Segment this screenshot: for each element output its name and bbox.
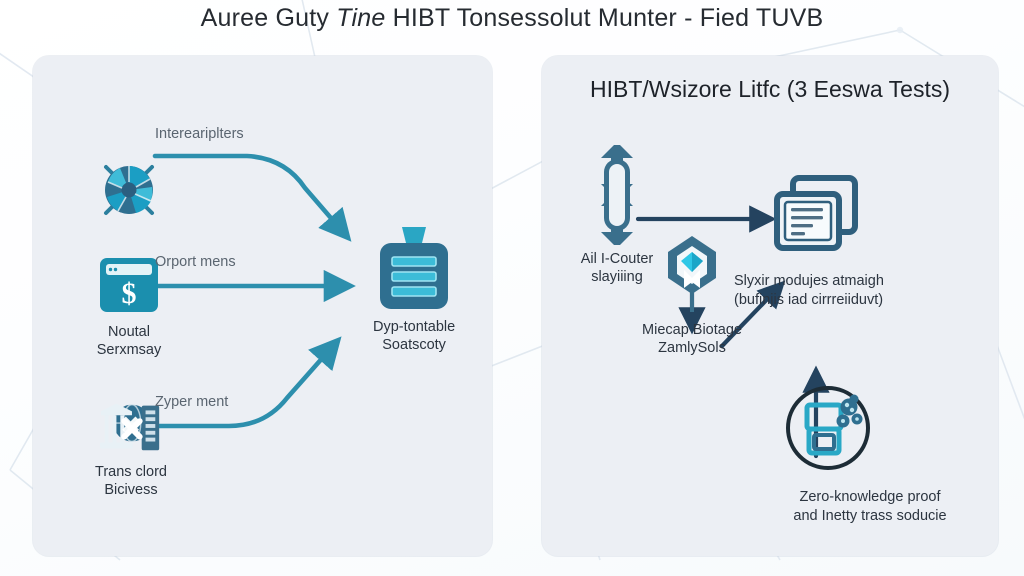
note-zkp-line-1: Zero-knowledge proof <box>799 489 940 505</box>
node-institution-label-2: Bicivess <box>95 482 167 500</box>
svg-text:$: $ <box>122 277 137 310</box>
node-institution-label-1: Trans clord <box>95 464 167 480</box>
browser-dollar-icon: $ <box>95 251 163 319</box>
node-clipboard-caption: Dyp-tontable Soatscoty <box>373 319 455 354</box>
note-modules: Slyxir modujes atmaigh (bufinjis iad cir… <box>734 272 884 310</box>
right-panel: HIBT/Wsizore Litfc (3 Eeswa Tests) <box>542 56 998 556</box>
node-pin-gem-caption: Miecap Biotage ZamlySols <box>630 322 754 357</box>
note-zkp-line-2: and Inetty trass soducie <box>720 507 1020 526</box>
node-windows[interactable] <box>770 172 864 265</box>
note-modules-line-1: Slyxir modujes atmaigh <box>734 273 884 289</box>
left-panel: $ Noutal Serxmsay <box>33 56 492 556</box>
edge-label-interoperability: Intereariplters <box>155 126 244 142</box>
node-pin-gem-label-1: Miecap Biotage <box>642 322 742 338</box>
node-segmented-sphere[interactable] <box>95 156 163 229</box>
node-badge-doc[interactable] <box>782 382 874 479</box>
node-pin-gem-label-2: ZamlySols <box>630 340 754 358</box>
arrow-top <box>155 156 343 232</box>
capsule-arrows-icon <box>576 144 658 246</box>
right-panel-title: HIBT/Wsizore Litfc (3 Eeswa Tests) <box>542 76 998 103</box>
node-billing-caption: Noutal Serxmsay <box>95 324 163 359</box>
node-clipboard-label-2: Soatscoty <box>373 337 455 355</box>
node-billing-label-2: Serxmsay <box>95 342 163 360</box>
page-title-post: HIBT Tonsessolut Munter - Fied TUVB <box>385 4 823 32</box>
note-zkp: Zero-knowledge proof and Inetty trass so… <box>720 488 1020 526</box>
node-clipboard-label-1: Dyp-tontable <box>373 319 455 335</box>
node-billing-label-1: Noutal <box>108 324 150 340</box>
note-modules-line-2: (bufinjis iad cirrreiiduvt) <box>734 291 884 310</box>
edge-label-payment: Zyper ment <box>155 394 228 410</box>
node-clipboard[interactable]: Dyp-tontable Soatscoty <box>373 224 455 354</box>
diagram-canvas: Auree Guty Tine HIBT Tonsessolut Munter … <box>0 0 1024 576</box>
edge-label-reporting: Orport mens <box>155 254 236 270</box>
page-title-italic: Tine <box>336 4 385 32</box>
segmented-sphere-icon <box>95 156 163 224</box>
page-title: Auree Guty Tine HIBT Tonsessolut Munter … <box>0 4 1024 33</box>
node-institution-caption: Trans clord Bicivess <box>95 464 167 499</box>
node-billing[interactable]: $ Noutal Serxmsay <box>95 251 163 359</box>
circle-document-molecule-icon <box>782 382 874 474</box>
arrow-bottom <box>155 346 333 426</box>
page-title-pre: Auree Guty <box>201 4 337 32</box>
stacked-windows-icon <box>770 172 864 260</box>
clipboard-lines-icon <box>373 224 455 314</box>
